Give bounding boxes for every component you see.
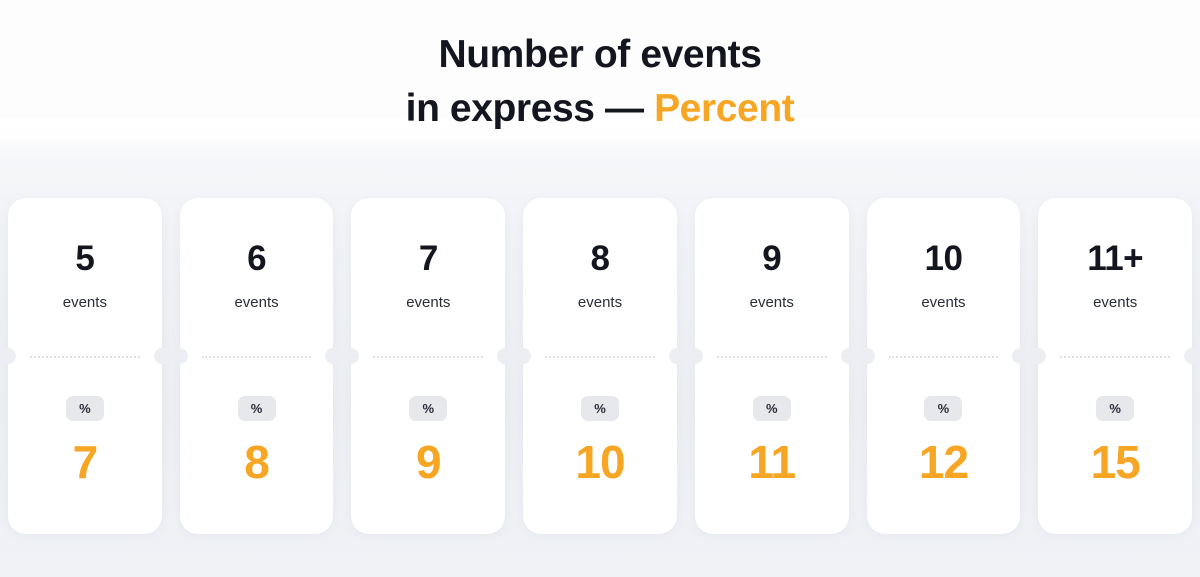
percent-value: 15	[1091, 439, 1140, 485]
notch-right-icon	[1012, 348, 1028, 364]
card-bottom-section: % 7	[8, 358, 162, 534]
stat-card[interactable]: 8 events % 10	[523, 198, 677, 534]
percent-value: 9	[416, 439, 441, 485]
percent-value: 8	[244, 439, 269, 485]
title-line-2-accent: Percent	[654, 87, 794, 130]
event-count-label: events	[63, 294, 107, 311]
card-top-section: 7 events	[351, 198, 505, 356]
stat-card[interactable]: 9 events % 11	[695, 198, 849, 534]
card-top-section: 10 events	[867, 198, 1021, 356]
dotted-divider	[717, 356, 827, 358]
card-perforation	[351, 356, 505, 358]
card-top-section: 11+ events	[1038, 198, 1192, 356]
event-count-label: events	[1093, 294, 1137, 311]
notch-right-icon	[497, 348, 513, 364]
page-title: Number of events in express — Percent	[0, 28, 1200, 136]
stat-card[interactable]: 5 events % 7	[8, 198, 162, 534]
card-top-section: 5 events	[8, 198, 162, 356]
stat-card[interactable]: 11+ events % 15	[1038, 198, 1192, 534]
dotted-divider	[545, 356, 655, 358]
card-top-section: 9 events	[695, 198, 849, 356]
notch-left-icon	[687, 348, 703, 364]
event-count-label: events	[578, 294, 622, 311]
notch-right-icon	[669, 348, 685, 364]
notch-left-icon	[859, 348, 875, 364]
card-perforation	[8, 356, 162, 358]
notch-left-icon	[172, 348, 188, 364]
notch-right-icon	[325, 348, 341, 364]
title-line-2-plain: in express —	[406, 87, 654, 130]
card-bottom-section: % 11	[695, 358, 849, 534]
card-perforation	[1038, 356, 1192, 358]
card-perforation	[523, 356, 677, 358]
percent-badge: %	[409, 396, 447, 421]
stat-cards-row: 5 events % 7 6 events % 8 7 ev	[8, 198, 1192, 534]
event-count-label: events	[921, 294, 965, 311]
stat-card[interactable]: 7 events % 9	[351, 198, 505, 534]
dotted-divider	[373, 356, 483, 358]
notch-left-icon	[0, 348, 16, 364]
percent-badge: %	[238, 396, 276, 421]
percent-value: 10	[575, 439, 624, 485]
card-top-section: 6 events	[180, 198, 334, 356]
percent-value: 12	[919, 439, 968, 485]
event-count: 6	[247, 241, 266, 276]
percent-badge: %	[753, 396, 791, 421]
event-count-label: events	[234, 294, 278, 311]
card-top-section: 8 events	[523, 198, 677, 356]
card-bottom-section: % 12	[867, 358, 1021, 534]
notch-right-icon	[841, 348, 857, 364]
event-count: 9	[762, 241, 781, 276]
event-count: 7	[419, 241, 438, 276]
card-bottom-section: % 10	[523, 358, 677, 534]
card-perforation	[180, 356, 334, 358]
title-line-1: Number of events	[0, 28, 1200, 82]
event-count-label: events	[406, 294, 450, 311]
percent-value: 7	[73, 439, 98, 485]
event-count: 5	[75, 241, 94, 276]
card-bottom-section: % 8	[180, 358, 334, 534]
percent-badge: %	[1096, 396, 1134, 421]
card-bottom-section: % 9	[351, 358, 505, 534]
dotted-divider	[1060, 356, 1170, 358]
notch-right-icon	[154, 348, 170, 364]
title-line-2: in express — Percent	[0, 82, 1200, 136]
event-count: 10	[924, 241, 962, 276]
notch-right-icon	[1184, 348, 1200, 364]
card-bottom-section: % 15	[1038, 358, 1192, 534]
event-count: 8	[591, 241, 610, 276]
stat-card[interactable]: 6 events % 8	[180, 198, 334, 534]
dotted-divider	[30, 356, 140, 358]
percent-badge: %	[924, 396, 962, 421]
event-count-label: events	[750, 294, 794, 311]
event-count: 11+	[1087, 241, 1143, 276]
stat-card[interactable]: 10 events % 12	[867, 198, 1021, 534]
dotted-divider	[202, 356, 312, 358]
percent-badge: %	[66, 396, 104, 421]
card-perforation	[695, 356, 849, 358]
dotted-divider	[889, 356, 999, 358]
percent-value: 11	[748, 439, 795, 485]
card-perforation	[867, 356, 1021, 358]
percent-badge: %	[581, 396, 619, 421]
